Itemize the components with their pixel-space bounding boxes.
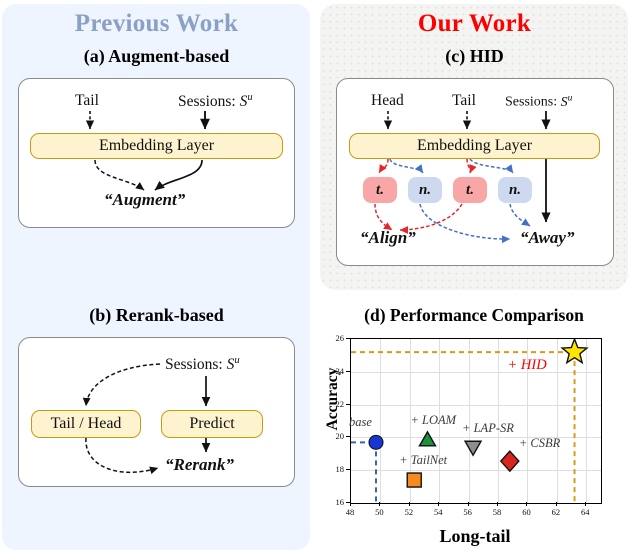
chart-ytick-label: 18	[326, 464, 344, 474]
chart-marker-tailnet	[407, 473, 421, 487]
panel-a-sessions-text: Sessions:	[178, 93, 236, 110]
chart-xtick-mark	[350, 502, 351, 506]
chart-point-label-lap-sr: + LAP-SR	[462, 421, 514, 436]
panel-c-chip-tail-2: t.	[453, 177, 487, 203]
chart-xtick-mark	[585, 502, 586, 506]
figure-root: Previous Work Our Work (a) Augment-based…	[0, 0, 630, 554]
panel-c-chip-neg-2: n.	[498, 177, 532, 203]
chart-point-label-csbr: + CSBR	[519, 436, 560, 451]
chart-marker-csbr	[501, 451, 519, 471]
panel-a-input-tail: Tail	[75, 92, 99, 110]
chart-xtick-mark	[409, 502, 410, 506]
chart-ytick-label: 22	[326, 399, 344, 409]
chart-ytick-label: 24	[326, 366, 344, 376]
performance-chart: Long-tail Accuracy 485052545658606264161…	[320, 330, 628, 554]
chart-xtick-label: 60	[516, 507, 536, 517]
chart-xtick-label: 58	[487, 507, 507, 517]
chart-xtick-label: 62	[546, 507, 566, 517]
chart-xtick-mark	[379, 502, 380, 506]
panel-b-input-sessions: Sessions: Su	[165, 355, 240, 374]
chart-ytick-mark	[346, 338, 350, 339]
panel-a-input-sessions: Sessions: Su	[178, 92, 253, 111]
chart-ytick-label: 20	[326, 431, 344, 441]
our-work-title: Our Work	[332, 10, 617, 38]
chart-marker-lap-sr	[465, 441, 481, 455]
panel-a-sessions-symbol: Su	[240, 93, 253, 110]
panel-b-output: “Rerank”	[165, 455, 234, 475]
chart-xtick-mark	[556, 502, 557, 506]
chart-xtick-label: 52	[399, 507, 419, 517]
panel-b-sessions-text: Sessions:	[165, 356, 223, 373]
panel-c-sessions-text: Sessions:	[505, 95, 557, 110]
panel-b-sessions-symbol: Su	[227, 356, 240, 373]
previous-work-title: Previous Work	[14, 10, 299, 38]
chart-xtick-label: 54	[428, 507, 448, 517]
chart-ytick-mark	[346, 371, 350, 372]
panel-c-sessions-symbol: Su	[561, 95, 573, 110]
chart-xtick-mark	[438, 502, 439, 506]
chart-xlabel: Long-tail	[350, 526, 600, 547]
chart-xtick-label: 50	[369, 507, 389, 517]
panel-a-caption: (a) Augment-based	[14, 46, 299, 67]
panel-c-embedding-box: Embedding Layer	[349, 133, 600, 159]
chart-xtick-mark	[526, 502, 527, 506]
chart-marker-base	[369, 435, 383, 449]
chart-xtick-mark	[497, 502, 498, 506]
chart-ytick-mark	[346, 404, 350, 405]
chart-point-label-hid: + HID	[508, 357, 547, 374]
panel-c-input-sessions: Sessions: Su	[505, 93, 572, 111]
panel-a-output: “Augment”	[104, 190, 185, 210]
chart-ytick-mark	[346, 436, 350, 437]
panel-d-caption: (d) Performance Comparison	[320, 305, 628, 326]
panel-a-embedding-box: Embedding Layer	[30, 133, 283, 159]
panel-c-chip-neg-1: n.	[408, 177, 442, 203]
chart-xtick-mark	[468, 502, 469, 506]
panel-c-chip-tail-1: t.	[363, 177, 397, 203]
panel-c-input-head: Head	[371, 92, 404, 110]
chart-ytick-label: 16	[326, 497, 344, 507]
chart-point-label-tailnet: + TailNet	[399, 453, 447, 468]
panel-c-input-tail: Tail	[452, 92, 476, 110]
chart-xtick-label: 56	[458, 507, 478, 517]
chart-marker-loam	[419, 432, 435, 446]
chart-point-label-base: base	[349, 415, 372, 430]
chart-xtick-label: 64	[575, 507, 595, 517]
chart-ytick-mark	[346, 502, 350, 503]
panel-b-tailhead-box: Tail / Head	[31, 410, 141, 438]
chart-marker-hid	[562, 339, 587, 363]
panel-b-caption: (b) Rerank-based	[14, 305, 299, 326]
panel-c-output-align: “Align”	[360, 228, 416, 248]
chart-ytick-mark	[346, 469, 350, 470]
chart-xtick-label: 48	[340, 507, 360, 517]
panel-b-predict-box: Predict	[161, 410, 263, 438]
chart-ytick-label: 26	[326, 333, 344, 343]
panel-c-caption: (c) HID	[332, 46, 617, 67]
chart-point-label-loam: + LOAM	[410, 413, 456, 428]
panel-c-output-away: “Away”	[520, 228, 574, 248]
